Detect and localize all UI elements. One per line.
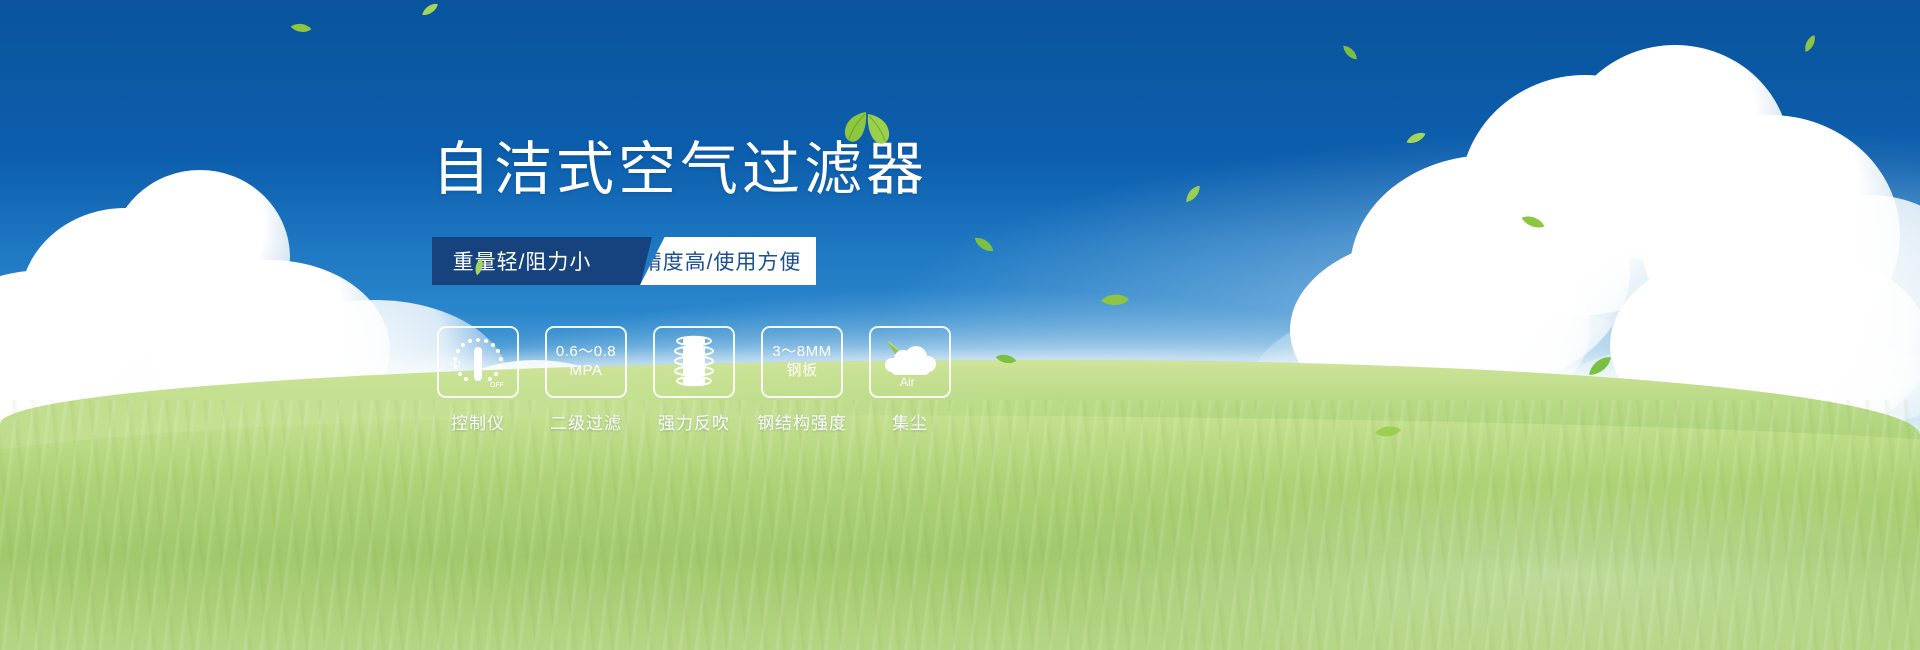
feature-caption: 二级过滤: [550, 409, 622, 434]
feature-caption: 控制仪: [451, 409, 505, 434]
steel-thickness: 3～8MM: [772, 343, 831, 362]
dial-off-label: OFF: [490, 382, 504, 389]
pressure-text-icon: 0.6～0.8 MPA: [556, 343, 616, 381]
pressure-unit: MPA: [556, 362, 616, 381]
badge-label: 精度高/使用方便: [641, 246, 802, 276]
feature-two-stage-filtration[interactable]: 0.6～0.8 MPA 二级过滤: [545, 326, 627, 434]
feature-icon-box: [653, 326, 735, 398]
title-leaf-left-icon: [842, 110, 868, 144]
feature-row: NO OFF 控制仪 0.6～0.8 MPA 二级过滤: [437, 326, 951, 434]
pressure-value: 0.6～0.8: [556, 343, 616, 362]
badge-precision-convenience[interactable]: 精度高/使用方便: [640, 237, 816, 285]
feature-steel-structure-strength[interactable]: 3～8MM 钢板 钢结构强度: [761, 326, 843, 434]
feature-icon-box: Air: [869, 326, 951, 398]
dial-on-label: NO: [450, 361, 461, 368]
title-leaf-right-icon: [866, 112, 892, 146]
feature-icon-box: 3～8MM 钢板: [761, 326, 843, 398]
feature-dust-collection[interactable]: Air 集尘: [869, 326, 951, 434]
banner-stage: 自洁式空气过滤器 重量轻/阻力小 精度高/使用方便: [0, 0, 1920, 650]
air-label: Air: [900, 375, 915, 389]
badge-label: 重量轻/阻力小: [453, 246, 592, 276]
air-cloud-icon: Air: [878, 334, 942, 390]
feature-caption: 钢结构强度: [757, 409, 847, 434]
feature-icon-box: 0.6～0.8 MPA: [545, 326, 627, 398]
badge-row: 重量轻/阻力小 精度高/使用方便: [432, 237, 816, 285]
page-title: 自洁式空气过滤器: [432, 141, 928, 199]
control-dial-icon: NO OFF: [448, 334, 508, 390]
feature-caption: 强力反吹: [658, 409, 730, 434]
feature-caption: 集尘: [892, 409, 928, 434]
filter-cartridge-icon: [668, 334, 720, 390]
feature-icon-box: NO OFF: [437, 326, 519, 398]
steel-material: 钢板: [772, 362, 831, 381]
badge-weight-resistance[interactable]: 重量轻/阻力小: [432, 237, 618, 285]
banner-content: 自洁式空气过滤器 重量轻/阻力小 精度高/使用方便: [0, 0, 1920, 650]
feature-strong-backblow[interactable]: 强力反吹: [653, 326, 735, 434]
steel-plate-text-icon: 3～8MM 钢板: [772, 343, 831, 381]
feature-control-instrument[interactable]: NO OFF 控制仪: [437, 326, 519, 434]
